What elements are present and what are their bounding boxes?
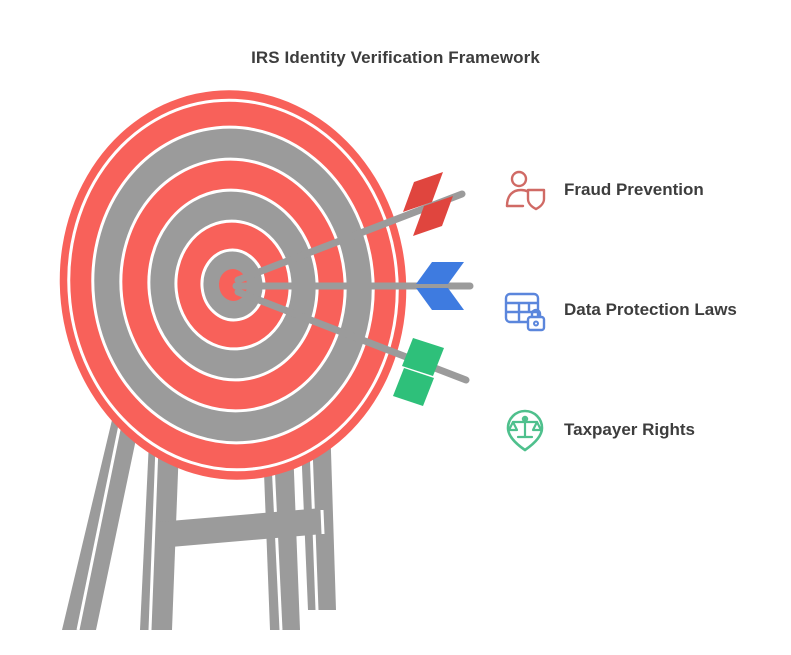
pin-scales-icon — [498, 403, 552, 457]
archery-target-illustration — [0, 90, 500, 650]
person-shield-icon — [498, 163, 552, 217]
legend-list: Fraud Prevention Data Protection Laws — [498, 130, 791, 490]
table-lock-icon — [498, 283, 552, 337]
legend-label: Taxpayer Rights — [564, 420, 695, 440]
legend-item-data-protection-laws[interactable]: Data Protection Laws — [498, 250, 791, 370]
legend-item-taxpayer-rights[interactable]: Taxpayer Rights — [498, 370, 791, 490]
legend-label: Data Protection Laws — [564, 300, 737, 320]
legend-label: Fraud Prevention — [564, 180, 704, 200]
target-face — [41, 90, 426, 497]
legend-item-fraud-prevention[interactable]: Fraud Prevention — [498, 130, 791, 250]
page-title: IRS Identity Verification Framework — [0, 48, 791, 68]
